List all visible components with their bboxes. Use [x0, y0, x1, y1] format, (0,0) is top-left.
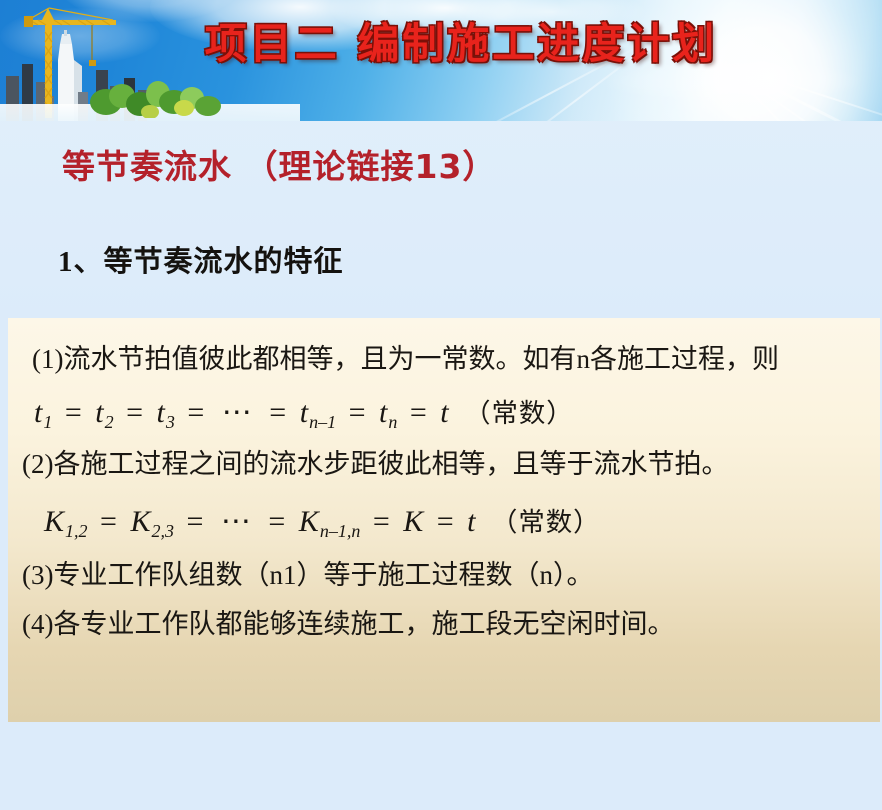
- section-heading: 1、等节奏流水的特征: [58, 238, 344, 280]
- equals-sign: =: [437, 505, 455, 538]
- formula-term: tn–1: [300, 396, 336, 429]
- formula-term: t: [467, 505, 476, 538]
- list-item: (1)流水节拍值彼此都相等，且为一常数。如有n各施工过程，则: [32, 342, 864, 377]
- equals-sign: =: [268, 505, 286, 538]
- formula-term: K1,2: [44, 505, 88, 538]
- formula-term: tn: [379, 396, 397, 429]
- equals-sign: =: [269, 396, 287, 429]
- formula-k: K1,2 = K2,3 = ⋯ = Kn–1,n = K = t （常数）: [44, 500, 864, 542]
- equals-sign: =: [186, 505, 204, 538]
- formula-term: K2,3: [130, 505, 174, 538]
- equals-sign: =: [65, 396, 83, 429]
- formula-term: t3: [157, 396, 175, 429]
- slide-subtitle: 等节奏流水 （理论链接13）: [62, 140, 496, 188]
- content-panel: (1)流水节拍值彼此都相等，且为一常数。如有n各施工过程，则 t1 = t2 =…: [8, 318, 880, 722]
- formula-term: t2: [95, 396, 113, 429]
- list-item: (2)各施工过程之间的流水步距彼此相等，且等于流水节拍。: [22, 447, 864, 482]
- formula-note: （常数）: [464, 398, 574, 429]
- equals-sign: =: [100, 505, 118, 538]
- formula-t: t1 = t2 = t3 = ⋯ = tn–1 = tn = t （常数）: [34, 391, 864, 433]
- slide: 项目二 编制施工进度计划 等节奏流水 （理论链接13） 1、等节奏流水的特征 (…: [0, 0, 882, 810]
- equals-sign: =: [187, 396, 205, 429]
- formula-term: t: [440, 396, 449, 429]
- formula-note: （常数）: [491, 507, 601, 538]
- ellipsis: ⋯: [221, 505, 252, 538]
- header-banner: 项目二 编制施工进度计划: [0, 0, 882, 121]
- formula-term: K: [403, 505, 424, 538]
- equals-sign: =: [373, 505, 391, 538]
- page-title: 项目二 编制施工进度计划: [0, 10, 882, 71]
- list-item: (3)专业工作队组数（n1）等于施工过程数（n）。: [22, 558, 864, 593]
- green-trees-icon: [88, 68, 238, 118]
- list-item: (4)各专业工作队都能够连续施工，施工段无空闲时间。: [22, 607, 864, 642]
- ellipsis: ⋯: [222, 396, 253, 429]
- equals-sign: =: [349, 396, 367, 429]
- equals-sign: =: [410, 396, 428, 429]
- formula-term: Kn–1,n: [299, 505, 361, 538]
- equals-sign: =: [126, 396, 144, 429]
- formula-term: t1: [34, 396, 52, 429]
